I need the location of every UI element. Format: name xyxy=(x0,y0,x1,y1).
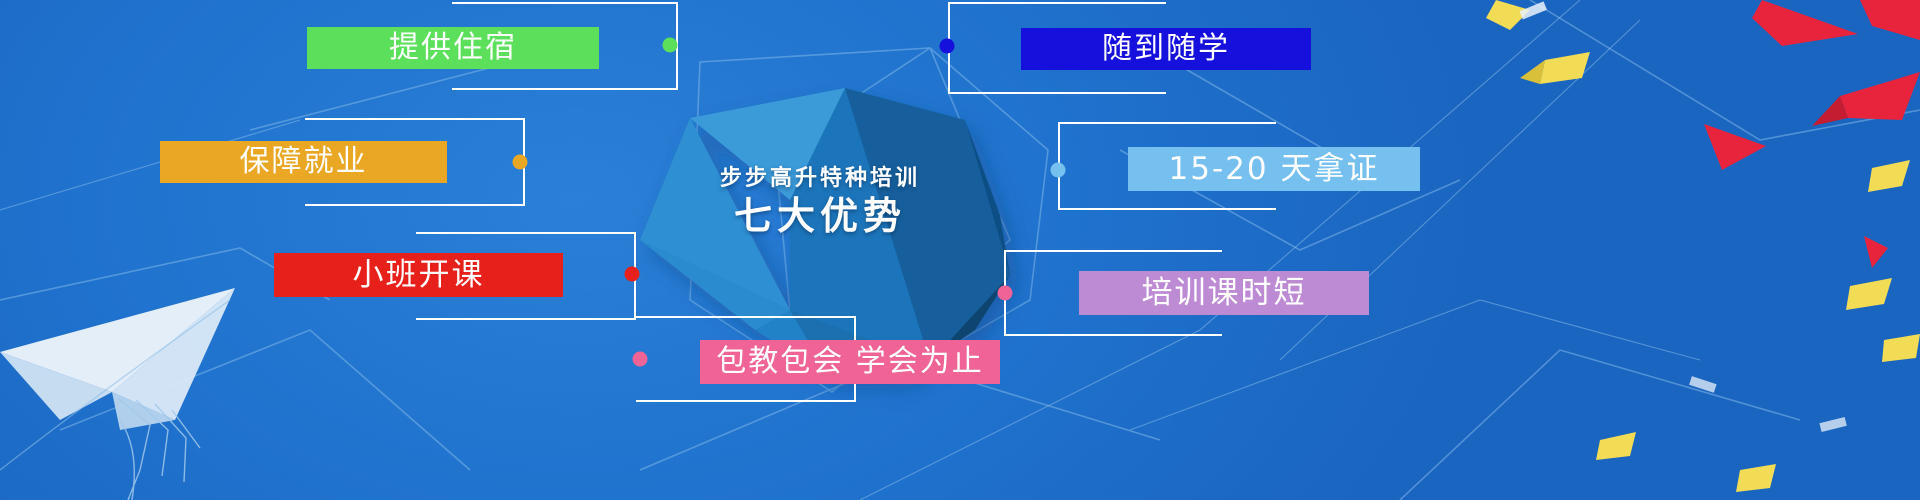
advantage-label-employment: 保障就业 xyxy=(240,147,368,177)
connector-dot-small-class xyxy=(625,267,640,282)
connector-dot-employment xyxy=(513,155,528,170)
advantage-chip-short-hours[interactable]: 培训课时短 xyxy=(1079,271,1369,315)
advantage-label-small-class: 小班开课 xyxy=(353,260,485,291)
advantage-chip-employment[interactable]: 保障就业 xyxy=(160,141,447,183)
advantage-chip-fast-cert[interactable]: 15-20 天拿证 xyxy=(1128,147,1420,191)
advantage-chip-anytime-study[interactable]: 随到随学 xyxy=(1021,28,1311,70)
advantage-chip-teach-till-learn[interactable]: 包教包会 学会为止 xyxy=(700,340,1000,384)
connector-dot-teach-till-learn xyxy=(633,352,648,367)
advantage-chip-accommodation[interactable]: 提供住宿 xyxy=(307,27,599,69)
advantage-label-short-hours: 培训课时短 xyxy=(1142,278,1307,309)
center-subtitle: 步步高升特种培训 xyxy=(560,165,1080,193)
connector-dot-accommodation xyxy=(663,38,678,53)
connector-dot-short-hours xyxy=(998,286,1013,301)
advantage-chip-small-class[interactable]: 小班开课 xyxy=(274,253,563,297)
infographic-banner: 步步高升特种培训 七大优势 提供住宿 保障就业 小班开课 包教包会 学会为止 随… xyxy=(0,0,1920,500)
advantage-label-accommodation: 提供住宿 xyxy=(389,33,517,63)
advantage-label-anytime-study: 随到随学 xyxy=(1102,34,1230,64)
connector-dot-anytime-study xyxy=(940,39,955,54)
center-title: 七大优势 xyxy=(560,195,1080,239)
center-title-block: 步步高升特种培训 七大优势 xyxy=(560,165,1080,238)
advantage-label-fast-cert: 15-20 天拿证 xyxy=(1169,154,1380,185)
advantage-label-teach-till-learn: 包教包会 学会为止 xyxy=(716,347,984,377)
